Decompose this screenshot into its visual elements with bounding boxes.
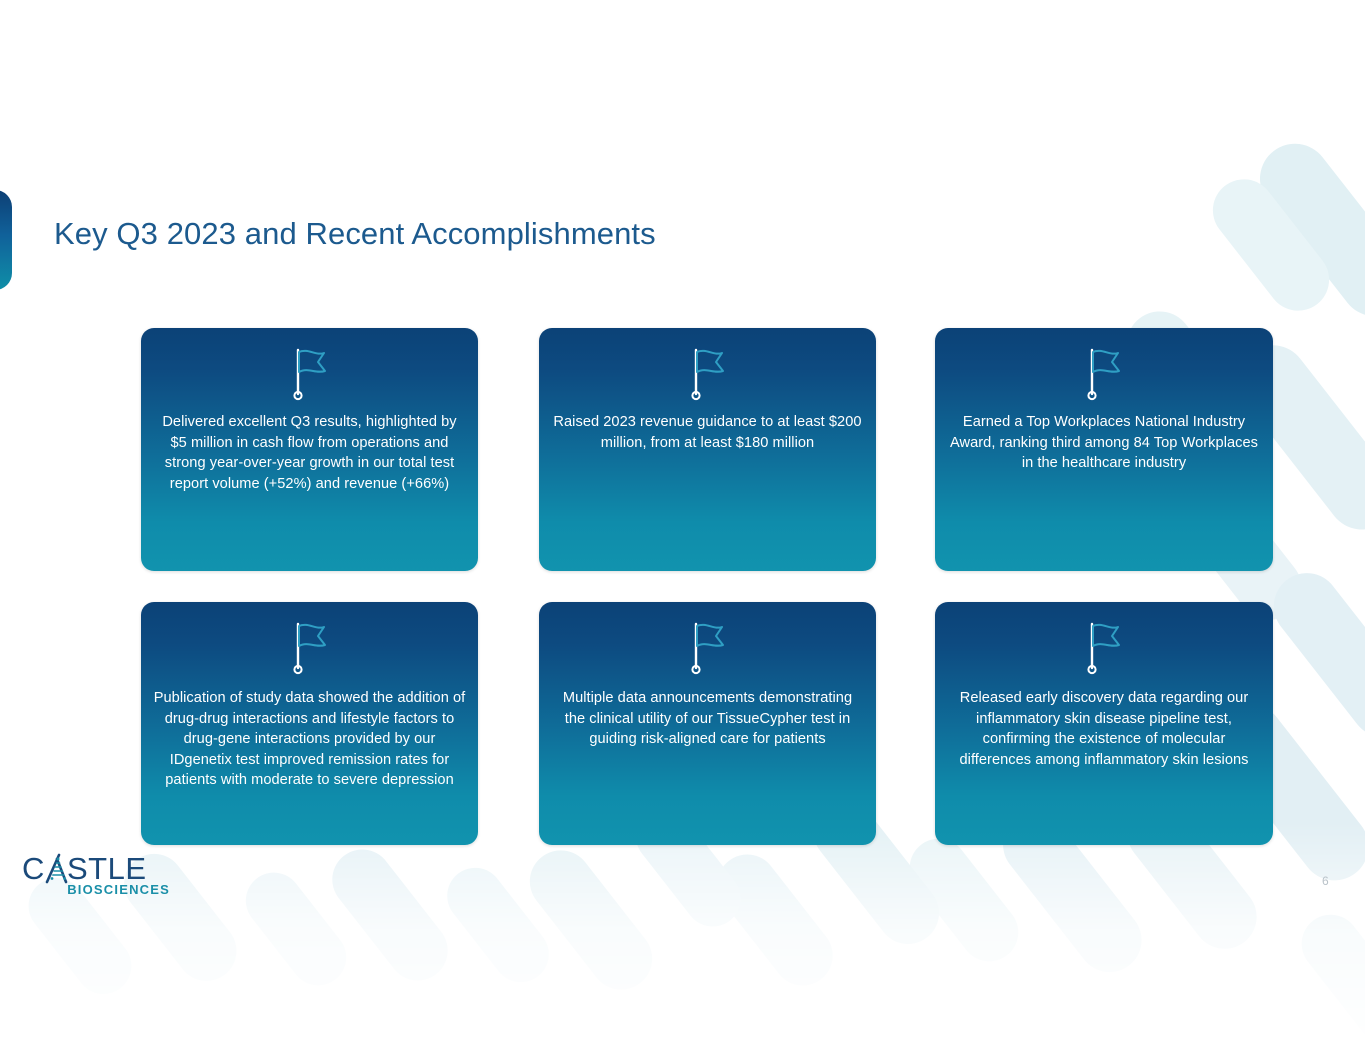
page-number: 6	[1322, 874, 1329, 888]
card-text: Raised 2023 revenue guidance to at least…	[551, 412, 864, 453]
flag-icon	[274, 346, 346, 404]
flag-icon	[672, 620, 744, 678]
card-text: Released early discovery data regarding …	[947, 688, 1261, 770]
flag-icon	[1068, 620, 1140, 678]
card-text: Multiple data announcements demonstratin…	[551, 688, 864, 750]
accomplishment-card: Publication of study data showed the add…	[141, 602, 478, 845]
accomplishment-card: Raised 2023 revenue guidance to at least…	[539, 328, 876, 571]
flag-icon	[1068, 346, 1140, 404]
left-edge-accent-tab	[0, 190, 12, 290]
accomplishment-card: Released early discovery data regarding …	[935, 602, 1273, 845]
logo-tagline: BIOSCIENCES	[67, 882, 170, 897]
accomplishment-card: Earned a Top Workplaces National Industr…	[935, 328, 1273, 571]
card-text: Publication of study data showed the add…	[153, 688, 466, 791]
page-title: Key Q3 2023 and Recent Accomplishments	[54, 216, 656, 252]
flag-icon	[274, 620, 346, 678]
flag-icon	[672, 346, 744, 404]
castle-biosciences-logo: C STLE BIOSCIENCES	[22, 852, 172, 898]
logo-wordmark-c: C	[22, 852, 45, 886]
logo-dna-a-icon	[47, 855, 66, 882]
accomplishment-card: Delivered excellent Q3 results, highligh…	[141, 328, 478, 571]
logo-wordmark-stle: STLE	[67, 852, 147, 886]
accomplishment-card: Multiple data announcements demonstratin…	[539, 602, 876, 845]
slide: Key Q3 2023 and Recent Accomplishments D…	[0, 0, 1365, 1055]
card-text: Earned a Top Workplaces National Industr…	[947, 412, 1261, 474]
card-text: Delivered excellent Q3 results, highligh…	[153, 412, 466, 494]
